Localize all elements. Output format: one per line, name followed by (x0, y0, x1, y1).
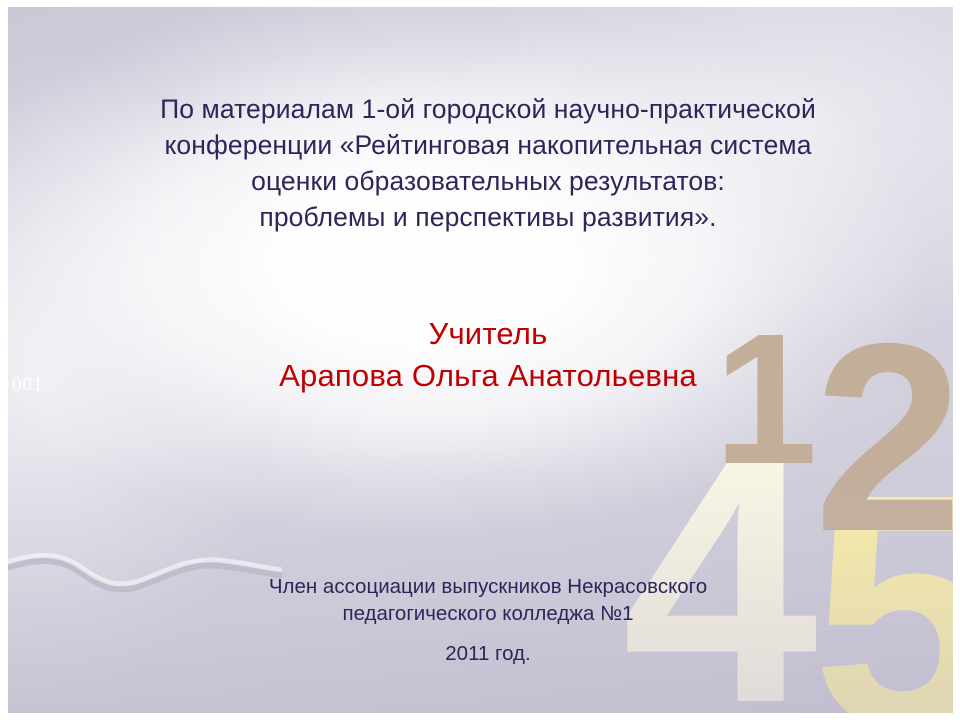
presenter-role: Учитель (148, 313, 828, 355)
conference-title: По материалам 1-ой городской научно-прак… (64, 91, 912, 235)
affiliation-year: 2011 год. (184, 640, 792, 667)
conference-title-line-3: оценки образовательных результатов: (64, 163, 912, 199)
conference-title-line-1: По материалам 1-ой городской научно-прак… (64, 91, 912, 127)
presentation-slide: 4 5 1 2 001 По материалам 1-ой городской… (0, 0, 960, 720)
conference-title-line-4: проблемы и перспективы развития». (64, 199, 912, 235)
slide-content: По материалам 1-ой городской научно-прак… (8, 7, 953, 713)
conference-title-line-2: конференции «Рейтинговая накопительная с… (64, 127, 912, 163)
presenter-name: Арапова Ольга Анатольевна (148, 355, 828, 397)
affiliation-line-2: педагогического колледжа №1 (184, 600, 792, 627)
presenter-block: Учитель Арапова Ольга Анатольевна (148, 313, 828, 397)
affiliation-block: Член ассоциации выпускников Некрасовског… (184, 573, 792, 667)
affiliation-line-1: Член ассоциации выпускников Некрасовског… (184, 573, 792, 600)
slide-canvas: 4 5 1 2 001 По материалам 1-ой городской… (8, 7, 953, 713)
